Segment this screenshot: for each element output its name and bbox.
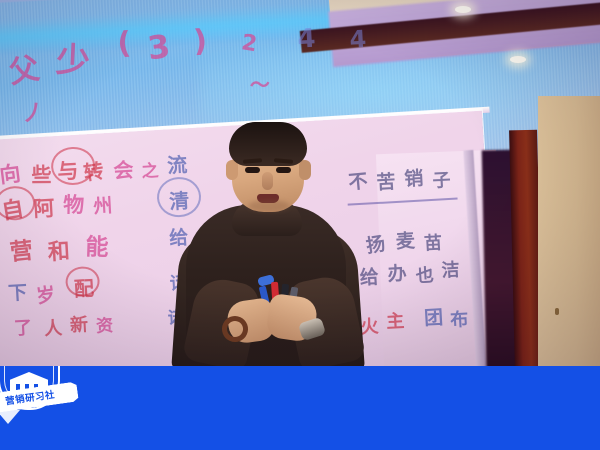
speaker-nose (262, 172, 273, 190)
screenshot-root: 父 少 ( 3 ) 2 4 4 ノ ～ 向 些 与 转 会 之 流 自 阿 (0, 0, 600, 450)
speaker-eye-left (245, 167, 260, 173)
building-window (16, 384, 20, 390)
speaker-figure (0, 0, 600, 366)
organization-badge-logo: KUAIYINKE ★ ★ ★ 营销研习社 (0, 366, 70, 442)
badge-arrow (0, 410, 20, 424)
speaker-chin-shadow (248, 200, 290, 212)
speaker-hair (229, 122, 307, 166)
conference-photo: 父 少 ( 3 ) 2 4 4 ノ ～ 向 些 与 转 会 之 流 自 阿 (0, 0, 600, 366)
event-banner: KUAIYINKE ★ ★ ★ 营销研习社 广告人创新营销与管理研讨会 目前已有… (0, 366, 600, 450)
speaker-eye-right (276, 167, 291, 173)
speaker-ear-right (299, 160, 311, 180)
